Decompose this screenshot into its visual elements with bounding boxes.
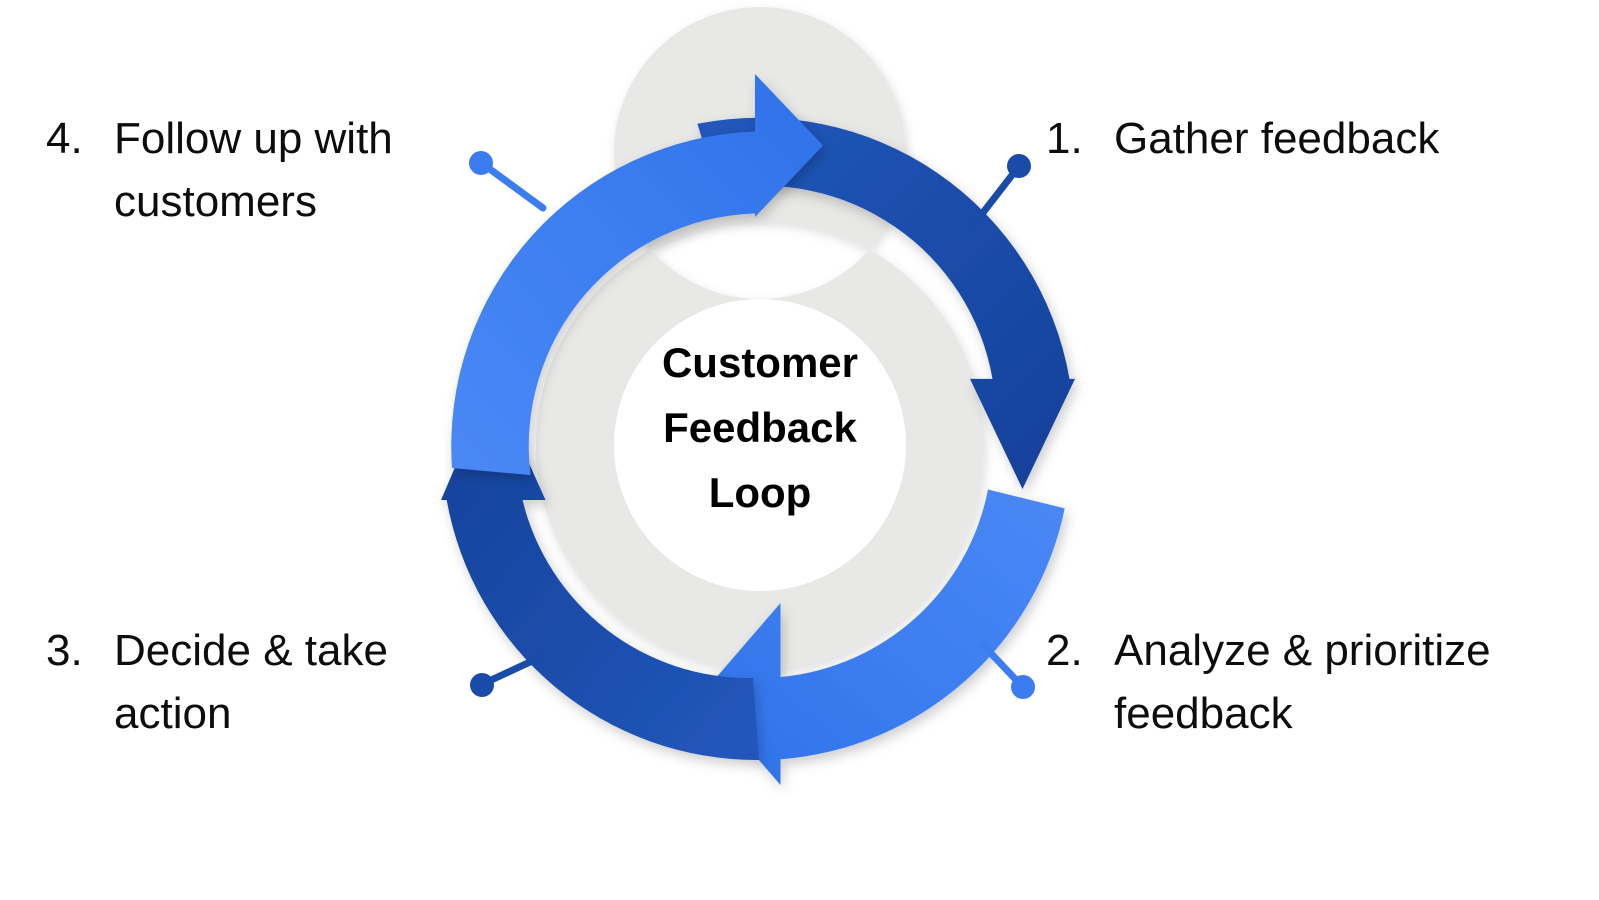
step-number-3: 3. bbox=[46, 620, 114, 683]
step-number-4: 4. bbox=[46, 108, 114, 171]
connector-step-2 bbox=[983, 645, 1035, 699]
step-label-1[interactable]: 1. Gather feedback bbox=[1046, 108, 1546, 171]
connector-step-1 bbox=[968, 154, 1031, 232]
step-number-2: 2. bbox=[1046, 620, 1114, 683]
step-text-2: Analyze & prioritize feedback bbox=[1114, 620, 1491, 746]
step-label-3[interactable]: 3. Decide & take action bbox=[46, 620, 516, 746]
step-label-2[interactable]: 2. Analyze & prioritize feedback bbox=[1046, 620, 1566, 746]
step-number-1: 1. bbox=[1046, 108, 1114, 171]
center-title: Customer Feedback Loop bbox=[560, 330, 960, 525]
step-text-4: Follow up with customers bbox=[114, 108, 393, 234]
step-label-4[interactable]: 4. Follow up with customers bbox=[46, 108, 496, 234]
connector-dot-step-1 bbox=[1007, 154, 1031, 178]
connector-dot-step-2 bbox=[1011, 675, 1035, 699]
step-text-3: Decide & take action bbox=[114, 620, 388, 746]
step-text-1: Gather feedback bbox=[1114, 108, 1439, 171]
diagram-canvas: Customer Feedback Loop 1. Gather feedbac… bbox=[0, 0, 1599, 900]
